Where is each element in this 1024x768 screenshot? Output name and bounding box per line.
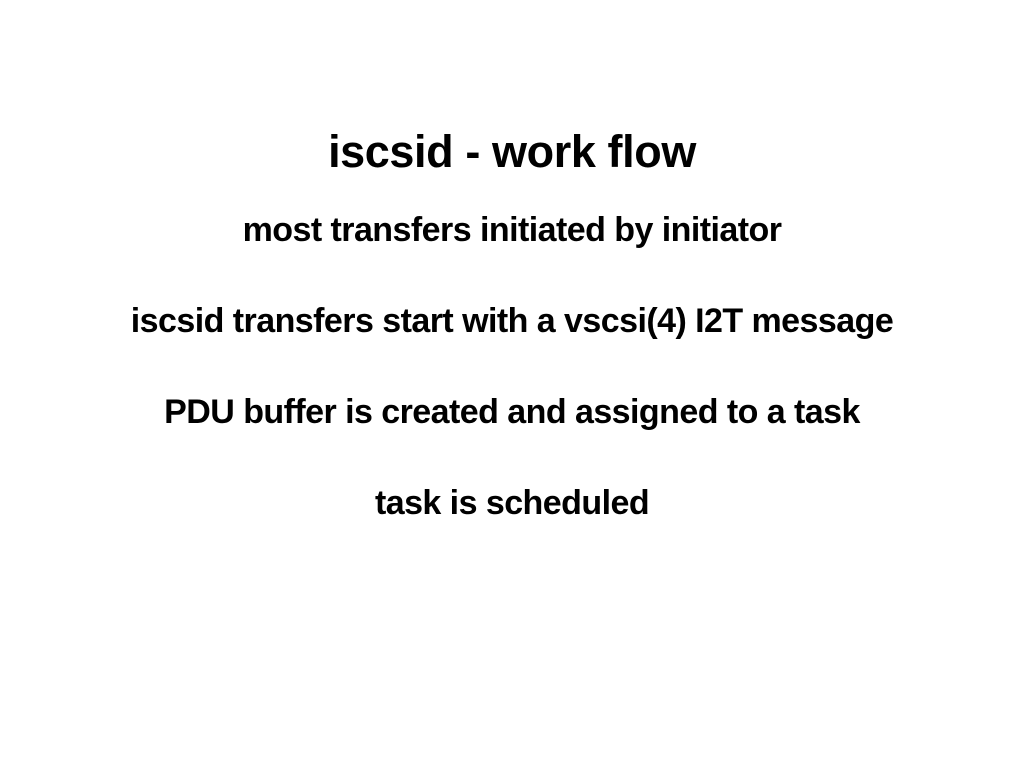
slide-bullet-line: PDU buffer is created and assigned to a … xyxy=(0,390,1024,481)
slide-content-area: iscsid - work flow most transfers initia… xyxy=(0,0,1024,768)
slide-title: iscsid - work flow xyxy=(0,126,1024,178)
presentation-slide: iscsid - work flow most transfers initia… xyxy=(0,0,1024,768)
slide-bullet-line: most transfers initiated by initiator xyxy=(0,208,1024,299)
slide-bullet-line: task is scheduled xyxy=(0,481,1024,572)
slide-bullet-list: most transfers initiated by initiator is… xyxy=(0,208,1024,572)
slide-bullet-line: iscsid transfers start with a vscsi(4) I… xyxy=(0,299,1024,390)
